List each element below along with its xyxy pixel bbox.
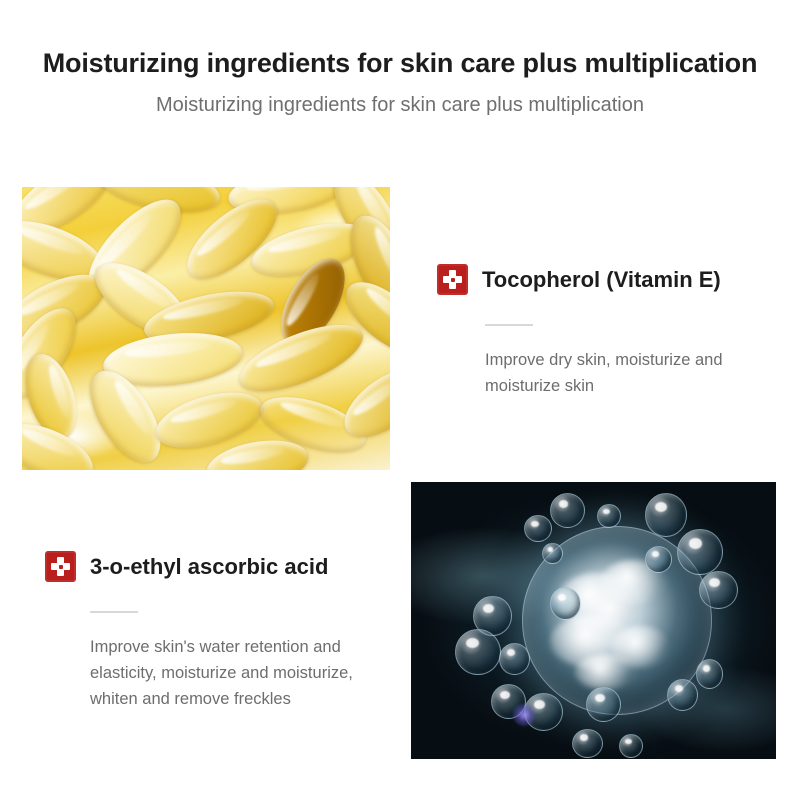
ingredient-title: Tocopherol (Vitamin E) xyxy=(482,266,721,294)
red-plus-icon xyxy=(437,264,468,295)
red-plus-icon xyxy=(45,551,76,582)
image-yellow-softgel-capsules xyxy=(22,187,390,470)
image-glowing-water-bubble-sphere xyxy=(411,482,776,759)
page-root: Moisturizing ingredients for skin care p… xyxy=(0,0,800,800)
ingredient-heading: Tocopherol (Vitamin E) xyxy=(437,264,767,295)
ingredient-title: 3-o-ethyl ascorbic acid xyxy=(90,553,328,581)
page-title: Moisturizing ingredients for skin care p… xyxy=(0,46,800,80)
ingredient-block-ascorbic-acid: 3-o-ethyl ascorbic acid Improve skin's w… xyxy=(45,551,375,712)
ingredient-description: Improve skin's water retention and elast… xyxy=(90,634,370,712)
page-header: Moisturizing ingredients for skin care p… xyxy=(0,46,800,118)
ingredient-description: Improve dry skin, moisturize and moistur… xyxy=(485,347,745,399)
section-divider xyxy=(90,611,138,613)
ingredient-block-tocopherol: Tocopherol (Vitamin E) Improve dry skin,… xyxy=(437,264,767,399)
section-divider xyxy=(485,324,533,326)
ingredient-heading: 3-o-ethyl ascorbic acid xyxy=(45,551,375,582)
page-subtitle: Moisturizing ingredients for skin care p… xyxy=(0,92,800,118)
